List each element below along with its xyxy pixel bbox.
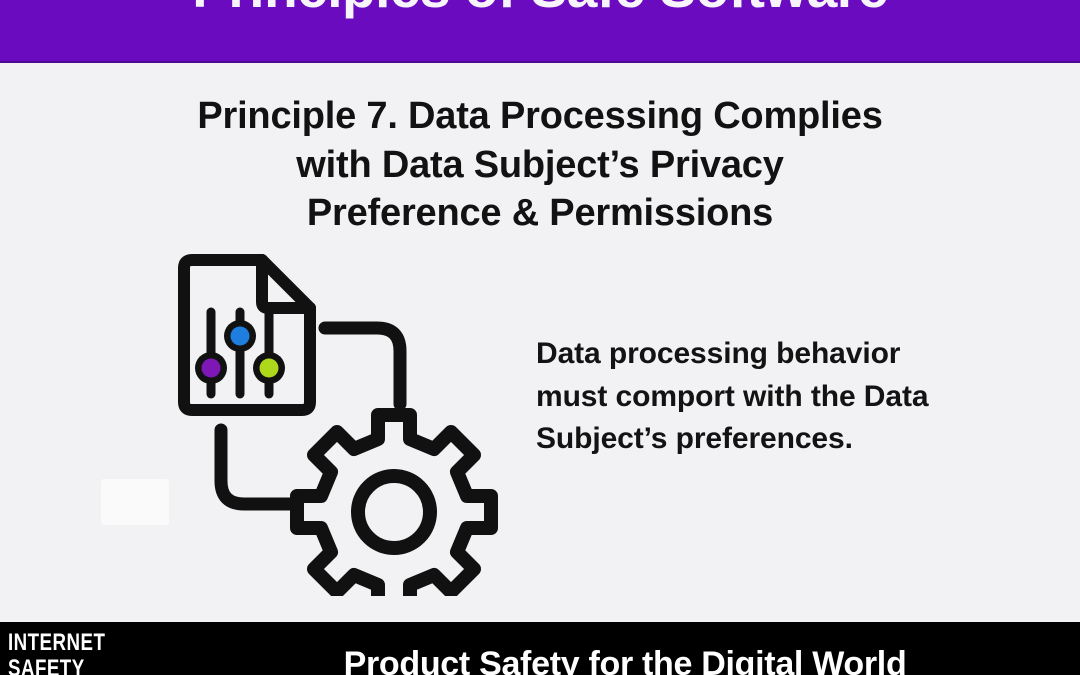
slide-title: Principles of Safe Software <box>0 0 1080 18</box>
slider-knob-left <box>195 352 227 384</box>
slider-knob-right <box>253 352 285 384</box>
heading-line-1: Principle 7. Data Processing Complies <box>90 92 990 141</box>
body-line-3: Subject’s preferences. <box>536 418 1036 461</box>
slider-knob-middle <box>224 320 256 352</box>
body-line-2: must comport with the Data <box>536 376 1036 419</box>
principle-heading: Principle 7. Data Processing Complies wi… <box>90 92 990 238</box>
watermark-artifact <box>101 479 169 525</box>
slide-canvas: Principles of Safe Software Principle 7.… <box>0 0 1080 675</box>
gear-icon <box>297 415 491 596</box>
body-paragraph: Data processing behavior must comport wi… <box>536 333 1036 461</box>
heading-line-2: with Data Subject’s Privacy <box>90 141 990 190</box>
document-settings-gear-illustration <box>162 246 502 596</box>
heading-line-3: Preference & Permissions <box>90 189 990 238</box>
elbow-connector-top-icon <box>325 328 400 404</box>
body-line-1: Data processing behavior <box>536 333 1036 376</box>
elbow-connector-bottom-icon <box>221 430 297 504</box>
title-banner: Principles of Safe Software <box>0 0 1080 63</box>
footer-tagline: Product Safety for the Digital World <box>0 645 1080 675</box>
